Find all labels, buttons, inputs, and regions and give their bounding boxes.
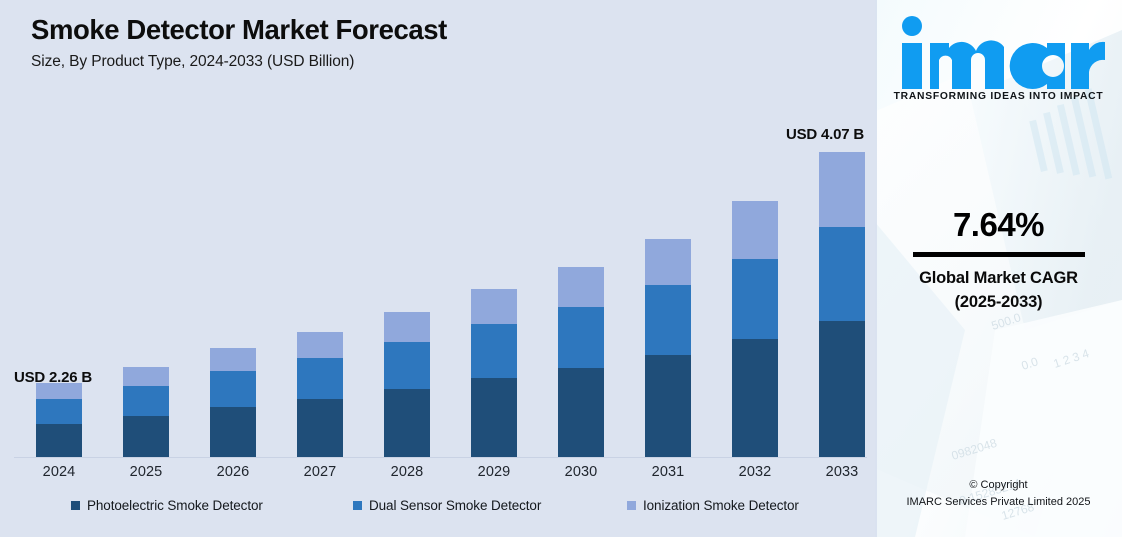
bar-segment-ionization[interactable] xyxy=(732,201,778,259)
bar-segment-dual-sensor[interactable] xyxy=(645,285,691,355)
cagr-caption: Global Market CAGR xyxy=(875,267,1122,291)
x-axis-label-2030: 2030 xyxy=(546,464,616,480)
bar-segment-ionization[interactable] xyxy=(645,239,691,285)
bar-segment-dual-sensor[interactable] xyxy=(210,371,256,407)
x-axis-label-2024: 2024 xyxy=(24,464,94,480)
cagr-divider xyxy=(913,252,1085,257)
bar-segment-dual-sensor[interactable] xyxy=(819,227,865,321)
bar-segment-photoelectric[interactable] xyxy=(645,355,691,457)
bar-stack-2028[interactable] xyxy=(384,312,430,457)
bar-stack-2032[interactable] xyxy=(732,201,778,457)
bar-segment-photoelectric[interactable] xyxy=(297,399,343,457)
cagr-period: (2025-2033) xyxy=(875,291,1122,315)
x-axis-label-2025: 2025 xyxy=(111,464,181,480)
x-axis-label-2032: 2032 xyxy=(720,464,790,480)
legend-item-photoelectric[interactable]: Photoelectric Smoke Detector xyxy=(71,498,263,513)
bar-stack-2033[interactable] xyxy=(819,152,865,457)
bar-segment-ionization[interactable] xyxy=(819,152,865,227)
copyright-line-2: IMARC Services Private Limited 2025 xyxy=(875,494,1122,511)
cagr-value: 7.64% xyxy=(875,208,1122,243)
plot-area: 2024202520262027202820292030203120322033… xyxy=(0,0,875,463)
bar-segment-ionization[interactable] xyxy=(210,348,256,371)
legend-item-dual-sensor[interactable]: Dual Sensor Smoke Detector xyxy=(353,498,541,513)
bar-segment-dual-sensor[interactable] xyxy=(558,307,604,368)
bar-stack-2031[interactable] xyxy=(645,239,691,457)
legend-swatch-ionization xyxy=(627,501,636,510)
bar-segment-dual-sensor[interactable] xyxy=(123,386,169,416)
copyright-line-1: © Copyright xyxy=(875,477,1122,494)
copyright-block: © Copyright IMARC Services Private Limit… xyxy=(875,477,1122,510)
legend-label-dual-sensor: Dual Sensor Smoke Detector xyxy=(369,498,541,513)
x-axis-label-2026: 2026 xyxy=(198,464,268,480)
bar-segment-ionization[interactable] xyxy=(558,267,604,307)
legend-swatch-photoelectric xyxy=(71,501,80,510)
brand-tagline: TRANSFORMING IDEAS INTO IMPACT xyxy=(875,91,1122,102)
cagr-block: 7.64% Global Market CAGR (2025-2033) xyxy=(875,208,1122,314)
legend-label-ionization: Ionization Smoke Detector xyxy=(643,498,799,513)
value-callout-last-year: USD 4.07 B xyxy=(786,126,864,143)
bar-segment-photoelectric[interactable] xyxy=(819,321,865,457)
bar-stack-2030[interactable] xyxy=(558,267,604,457)
legend-swatch-dual-sensor xyxy=(353,501,362,510)
bar-segment-photoelectric[interactable] xyxy=(732,339,778,457)
x-axis-label-2031: 2031 xyxy=(633,464,703,480)
bar-stack-2027[interactable] xyxy=(297,332,343,457)
x-axis-label-2029: 2029 xyxy=(459,464,529,480)
legend-label-photoelectric: Photoelectric Smoke Detector xyxy=(87,498,263,513)
bar-segment-ionization[interactable] xyxy=(297,332,343,358)
brand-panel: 500.0 0.0 1 2 3 4 0982048 0.15285214 127… xyxy=(875,0,1122,537)
chart-legend: Photoelectric Smoke Detector Dual Sensor… xyxy=(0,498,875,528)
bar-segment-photoelectric[interactable] xyxy=(384,389,430,457)
bar-segment-photoelectric[interactable] xyxy=(123,416,169,457)
x-axis-label-2033: 2033 xyxy=(807,464,877,480)
bar-segment-photoelectric[interactable] xyxy=(210,407,256,457)
x-axis-label-2028: 2028 xyxy=(372,464,442,480)
bar-segment-photoelectric[interactable] xyxy=(36,424,82,457)
brand-logo: TRANSFORMING IDEAS INTO IMPACT xyxy=(875,12,1122,102)
bar-segment-ionization[interactable] xyxy=(471,289,517,324)
bar-segment-dual-sensor[interactable] xyxy=(471,324,517,378)
bar-stack-2024[interactable] xyxy=(36,383,82,457)
legend-item-ionization[interactable]: Ionization Smoke Detector xyxy=(627,498,799,513)
imarc-logo-icon xyxy=(891,12,1107,90)
bar-segment-ionization[interactable] xyxy=(384,312,430,342)
bar-segment-dual-sensor[interactable] xyxy=(297,358,343,399)
x-axis-label-2027: 2027 xyxy=(285,464,355,480)
bar-stack-2026[interactable] xyxy=(210,348,256,457)
value-callout-first-year: USD 2.26 B xyxy=(14,369,92,386)
bar-segment-dual-sensor[interactable] xyxy=(732,259,778,339)
x-axis-line xyxy=(14,457,867,458)
bar-stack-2025[interactable] xyxy=(123,367,169,457)
bar-stack-2029[interactable] xyxy=(471,289,517,457)
bar-segment-photoelectric[interactable] xyxy=(471,378,517,457)
bar-segment-photoelectric[interactable] xyxy=(558,368,604,457)
bar-segment-ionization[interactable] xyxy=(123,367,169,386)
bar-segment-dual-sensor[interactable] xyxy=(36,399,82,424)
bar-segment-dual-sensor[interactable] xyxy=(384,342,430,389)
chart-panel: Smoke Detector Market Forecast Size, By … xyxy=(0,0,875,537)
chart-infographic: Smoke Detector Market Forecast Size, By … xyxy=(0,0,1122,537)
